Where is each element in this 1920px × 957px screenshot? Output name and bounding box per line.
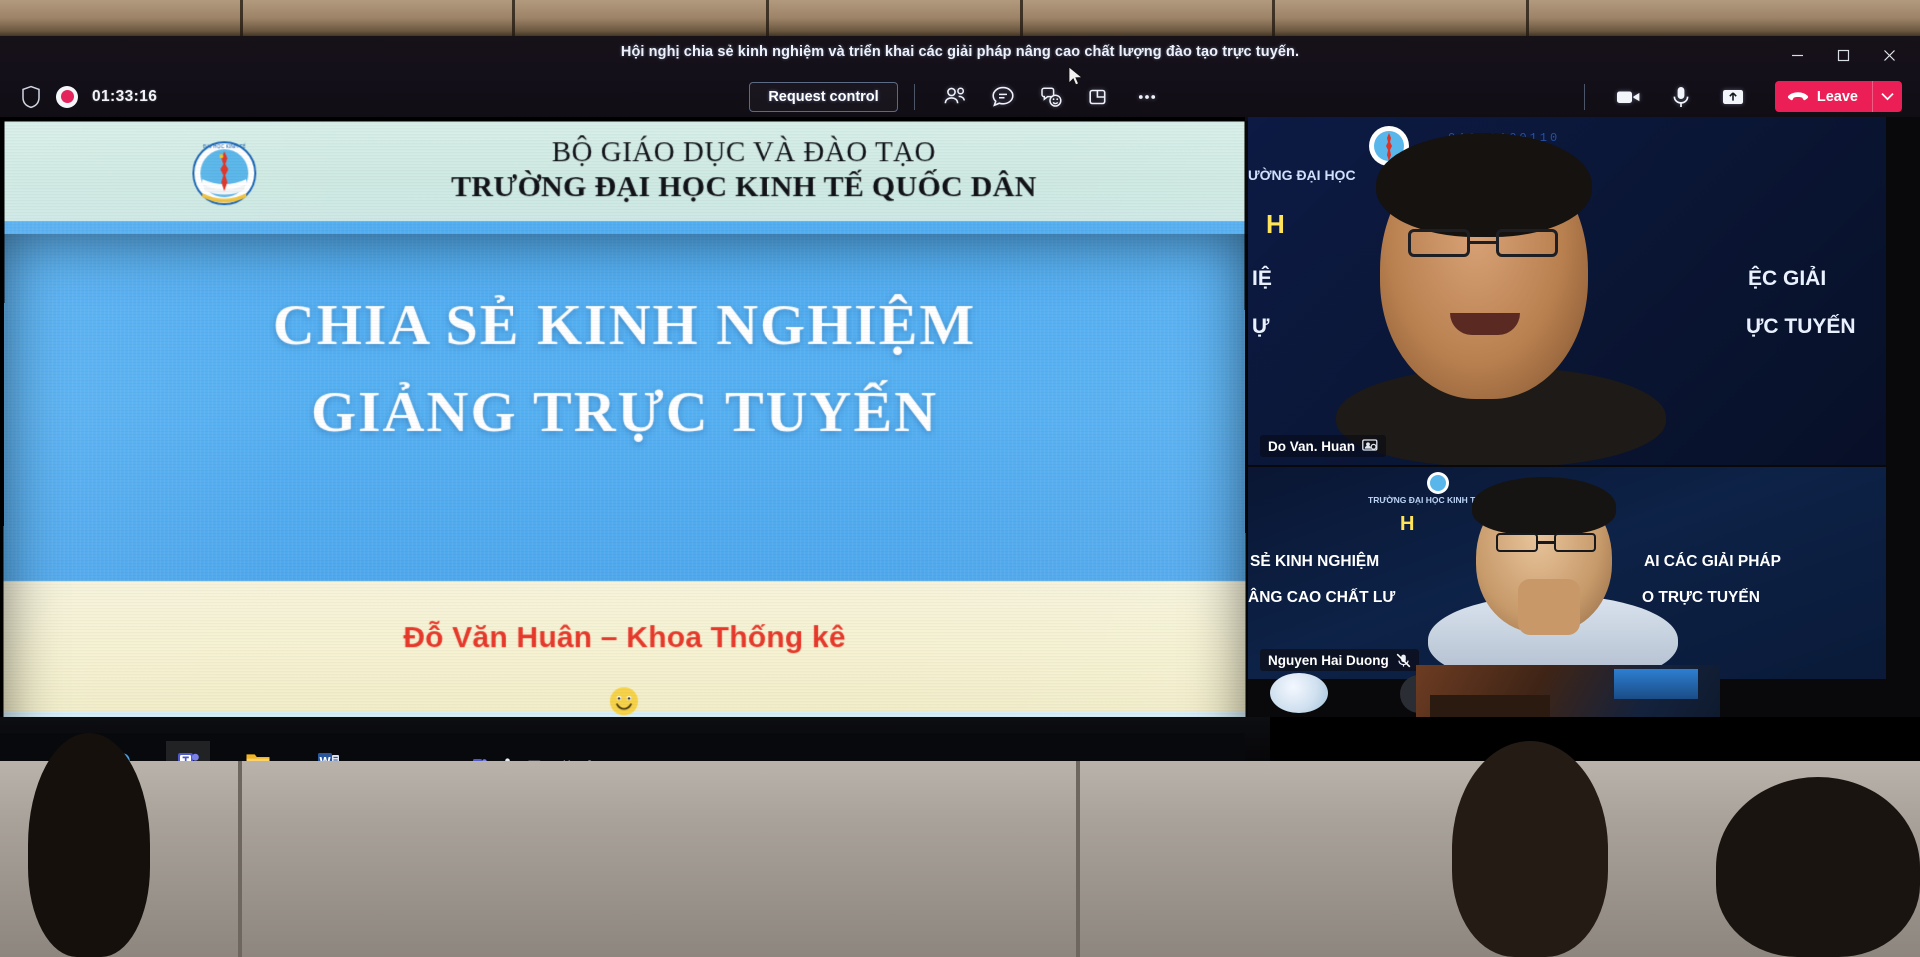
slide-title-line1: CHIA SẺ KINH NGHIỆM: [273, 292, 976, 357]
slide-title-band: CHIA SẺ KINH NGHIỆM GIẢNG TRỰC TUYẾN: [4, 221, 1246, 581]
tile-1-slide-text-4: ỆC GIẢI: [1748, 267, 1826, 291]
tile-2-participant-name: Nguyen Hai Duong: [1268, 653, 1389, 668]
microphone-muted-icon: [1396, 653, 1411, 668]
person-silhouette-left: [28, 733, 150, 957]
smiley-face-icon: [608, 685, 640, 717]
neu-university-logo: ĐẠI HỌC KINH TẾ: [190, 139, 258, 207]
slide-title: CHIA SẺ KINH NGHIỆM GIẢNG TRỰC TUYẾN: [4, 281, 1245, 455]
room-desk-surface: [0, 761, 1920, 957]
slide-header: ĐẠI HỌC KINH TẾ BỘ GIÁO DỤC VÀ ĐÀO TẠO T…: [4, 121, 1244, 221]
minimize-button[interactable]: [1774, 40, 1820, 70]
leave-label: Leave: [1817, 89, 1858, 105]
leave-dropdown-button[interactable]: [1872, 81, 1902, 112]
tile-2-logo-icon: [1426, 471, 1450, 495]
maximize-button[interactable]: [1820, 40, 1866, 70]
slide-presenter-name: Đỗ Văn Huân – Khoa Thống kê: [3, 621, 1245, 655]
chevron-down-icon: [1881, 92, 1894, 101]
control-bar-right: Leave: [1568, 72, 1902, 121]
tile-2-slide-text-2: H: [1400, 513, 1414, 536]
video-tile-room-camera[interactable]: [1416, 665, 1720, 717]
tile-1-name-tag: Do Van. Huan: [1260, 435, 1386, 457]
participant-avatar[interactable]: [1270, 673, 1328, 713]
chat-icon[interactable]: [979, 77, 1027, 117]
tile-2-name-tag: Nguyen Hai Duong: [1260, 649, 1419, 671]
desktop-area: W: [0, 717, 1920, 957]
slide-header-line2: TRƯỜNG ĐẠI HỌC KINH TẾ QUỐC DÂN: [304, 169, 1183, 205]
meeting-title: Hội nghị chia sẻ kinh nghiệm và triển kh…: [0, 44, 1920, 60]
tile-1-participant-name: Do Van. Huan: [1268, 439, 1355, 454]
control-divider: [914, 84, 915, 110]
room-wall: [0, 0, 1920, 40]
meeting-control-bar: 01:33:16 Request control: [0, 72, 1920, 121]
leave-button[interactable]: Leave: [1775, 81, 1902, 112]
slide-header-text: BỘ GIÁO DỤC VÀ ĐÀO TẠO TRƯỜNG ĐẠI HỌC KI…: [304, 135, 1183, 205]
slide-header-line1: BỘ GIÁO DỤC VÀ ĐÀO TẠO: [304, 135, 1183, 169]
tile-1-slide-text-2: H: [1266, 209, 1285, 240]
screenshot-root: Hội nghị chia sẻ kinh nghiệm và triển kh…: [0, 0, 1920, 957]
tile-1-slide-text-1: ƯỜNG ĐẠI HỌC: [1248, 167, 1356, 183]
hangup-icon: [1787, 90, 1809, 104]
person-silhouette-right: [1452, 741, 1608, 957]
presentation-slide: ĐẠI HỌC KINH TẾ BỘ GIÁO DỤC VÀ ĐÀO TẠO T…: [3, 121, 1245, 717]
tile-1-slide-text-5: Ự: [1252, 315, 1269, 339]
more-options-icon[interactable]: [1123, 77, 1171, 117]
teams-window: Hội nghị chia sẻ kinh nghiệm và triển kh…: [0, 36, 1920, 121]
close-button[interactable]: [1866, 40, 1912, 70]
svg-text:ĐẠI HỌC KINH TẾ: ĐẠI HỌC KINH TẾ: [203, 142, 247, 150]
people-icon[interactable]: [931, 77, 979, 117]
tile-2-slide-text-5: ÂNG CAO CHẤT LƯ: [1248, 589, 1395, 607]
shared-content-stage[interactable]: ĐẠI HỌC KINH TẾ BỘ GIÁO DỤC VÀ ĐÀO TẠO T…: [0, 117, 1245, 717]
screen-sharing-icon: [1362, 439, 1378, 453]
camera-icon[interactable]: [1605, 77, 1653, 117]
tile-1-slide-text-6: ỰC TUYẾN: [1746, 315, 1856, 339]
microphone-icon[interactable]: [1657, 77, 1705, 117]
participant-rail: 01001100110 1010011001 001100101 0110110…: [1248, 117, 1920, 717]
tile-2-slide-text-4: AI CÁC GIẢI PHÁP: [1644, 553, 1781, 571]
person-silhouette-far-right: [1716, 777, 1920, 957]
breakout-rooms-icon[interactable]: [1075, 77, 1123, 117]
slide-title-line2: GIẢNG TRỰC TUYẾN: [4, 368, 1245, 455]
tile-2-slide-text-6: O TRỰC TUYẾN: [1642, 589, 1760, 607]
control-divider-right: [1584, 84, 1585, 110]
video-tile-nguyen-hai-duong[interactable]: TRƯỜNG ĐẠI HỌC KINH TẾ QUỐC DÂN H SẺ KIN…: [1248, 467, 1886, 679]
video-tile-do-van-huan[interactable]: 01001100110 1010011001 001100101 0110110…: [1248, 117, 1886, 465]
request-control-button[interactable]: Request control: [749, 82, 897, 112]
share-tray-icon[interactable]: [1709, 77, 1757, 117]
tile-1-slide-text-3: IỆ: [1252, 267, 1272, 291]
reactions-icon[interactable]: [1027, 77, 1075, 117]
window-buttons: [1774, 40, 1912, 70]
leave-main[interactable]: Leave: [1775, 81, 1872, 112]
tile-2-slide-text-3: SẺ KINH NGHIỆM: [1250, 553, 1379, 571]
title-bar: Hội nghị chia sẻ kinh nghiệm và triển kh…: [0, 36, 1920, 72]
